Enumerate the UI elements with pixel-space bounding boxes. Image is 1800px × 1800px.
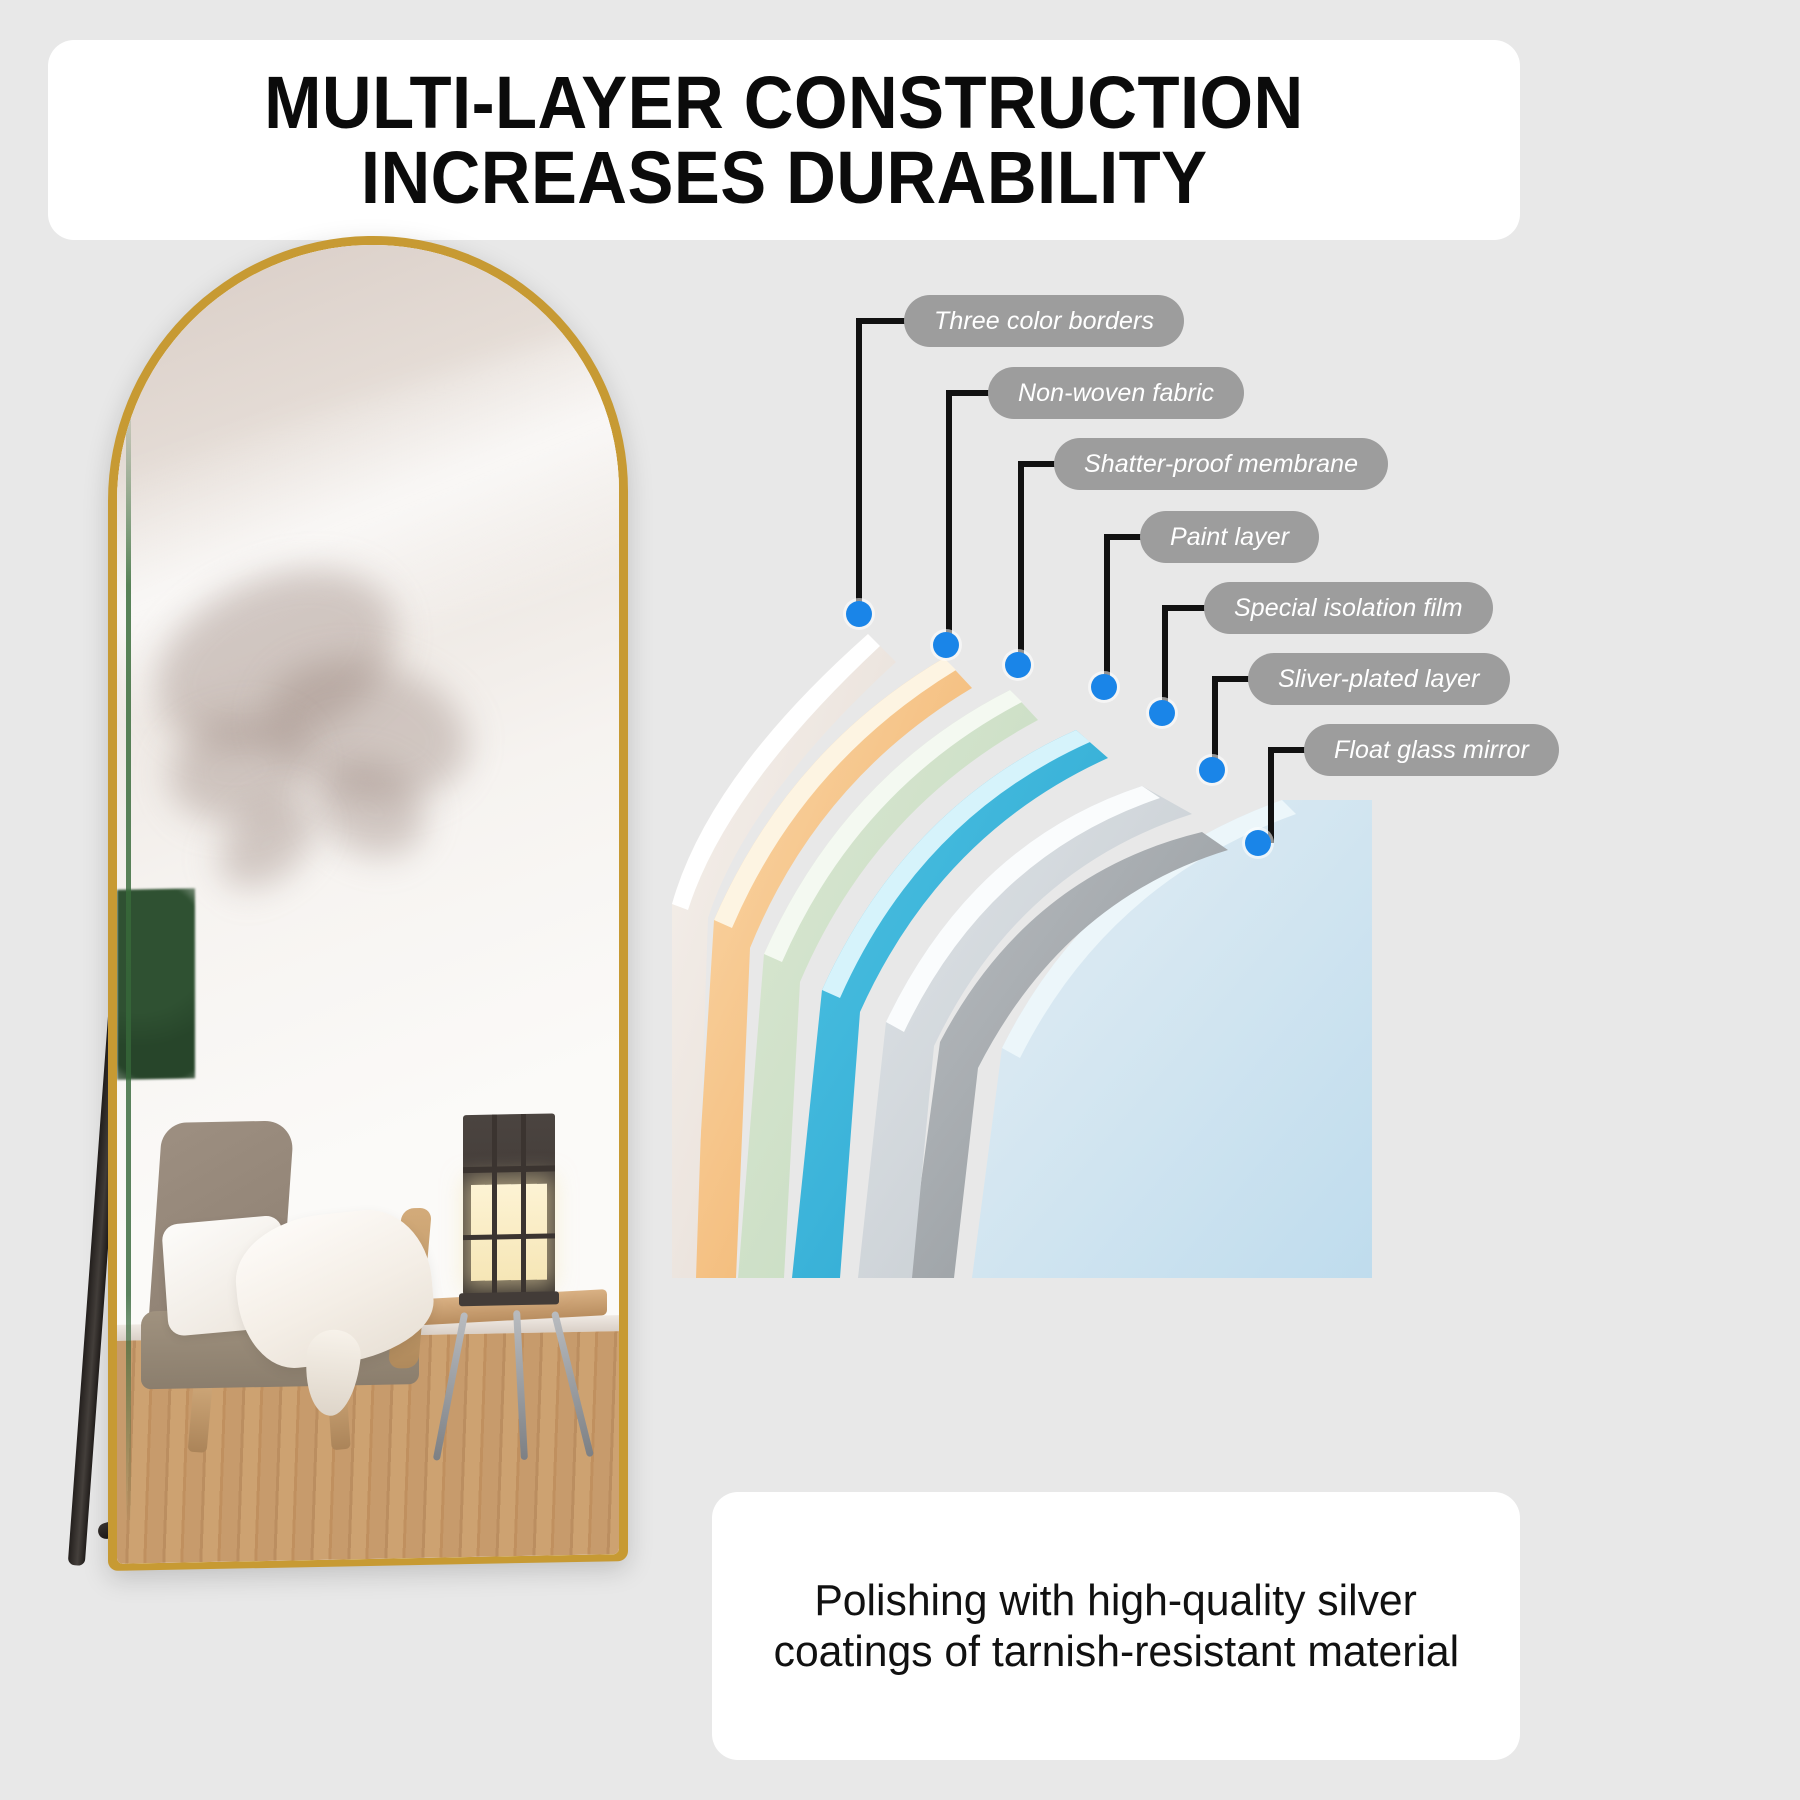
- marker-dot-5: [1149, 700, 1175, 726]
- layer-stack-diagram: [672, 618, 1372, 1278]
- title-line-2: INCREASES DURABILITY: [361, 140, 1208, 215]
- lamp-mullion: [463, 1165, 555, 1173]
- leader-line-5: [1162, 605, 1210, 717]
- label-special-isolation-film: Special isolation film: [1204, 582, 1493, 634]
- label-shatter-proof-membrane: Shatter-proof membrane: [1054, 438, 1388, 490]
- marker-dot-6: [1199, 757, 1225, 783]
- label-paint-layer: Paint layer: [1140, 511, 1319, 563]
- mirror-glass: [117, 240, 619, 1564]
- label-text: Sliver-plated layer: [1278, 665, 1480, 694]
- infographic-canvas: MULTI-LAYER CONSTRUCTION INCREASES DURAB…: [0, 0, 1800, 1800]
- lantern-lamp: [463, 1113, 555, 1295]
- label-three-color-borders: Three color borders: [904, 295, 1184, 347]
- leader-line-4: [1104, 534, 1146, 690]
- lamp-mullion: [521, 1114, 526, 1294]
- label-text: Shatter-proof membrane: [1084, 450, 1358, 479]
- throw-blanket-tail: [301, 1328, 364, 1418]
- marker-dot-1: [846, 601, 872, 627]
- product-photo: [60, 236, 680, 1576]
- mirror-green-edge: [126, 380, 131, 1524]
- label-text: Non-woven fabric: [1018, 379, 1214, 408]
- caption-card: Polishing with high-quality silver coati…: [712, 1492, 1520, 1760]
- title-line-1: MULTI-LAYER CONSTRUCTION: [264, 65, 1304, 140]
- lamp-light: [471, 1184, 547, 1281]
- lamp-mullion: [492, 1115, 497, 1295]
- leader-line-7: [1268, 747, 1310, 843]
- leader-line-1: [856, 318, 910, 614]
- leader-line-3: [1018, 461, 1060, 667]
- label-text: Paint layer: [1170, 523, 1289, 552]
- reflected-room-scene: [117, 240, 619, 1564]
- label-text: Three color borders: [934, 307, 1154, 336]
- label-non-woven-fabric: Non-woven fabric: [988, 367, 1244, 419]
- arched-mirror-frame: [108, 231, 628, 1571]
- leader-line-6: [1212, 676, 1254, 772]
- label-sliver-plated-layer: Sliver-plated layer: [1248, 653, 1510, 705]
- caption-line-1: Polishing with high-quality silver: [815, 1575, 1418, 1626]
- layer-stack-svg: [672, 618, 1372, 1278]
- marker-dot-4: [1091, 674, 1117, 700]
- caption-line-2: coatings of tarnish-resistant material: [773, 1626, 1459, 1677]
- label-float-glass-mirror: Float glass mirror: [1304, 724, 1559, 776]
- leader-line-2: [946, 390, 994, 646]
- lamp-base: [459, 1291, 559, 1306]
- marker-dot-7: [1245, 830, 1271, 856]
- armchair: [137, 1118, 427, 1454]
- marker-dot-2: [933, 632, 959, 658]
- marker-dot-3: [1005, 652, 1031, 678]
- label-text: Special isolation film: [1234, 594, 1463, 623]
- title-card: MULTI-LAYER CONSTRUCTION INCREASES DURAB…: [48, 40, 1520, 240]
- label-text: Float glass mirror: [1334, 736, 1529, 765]
